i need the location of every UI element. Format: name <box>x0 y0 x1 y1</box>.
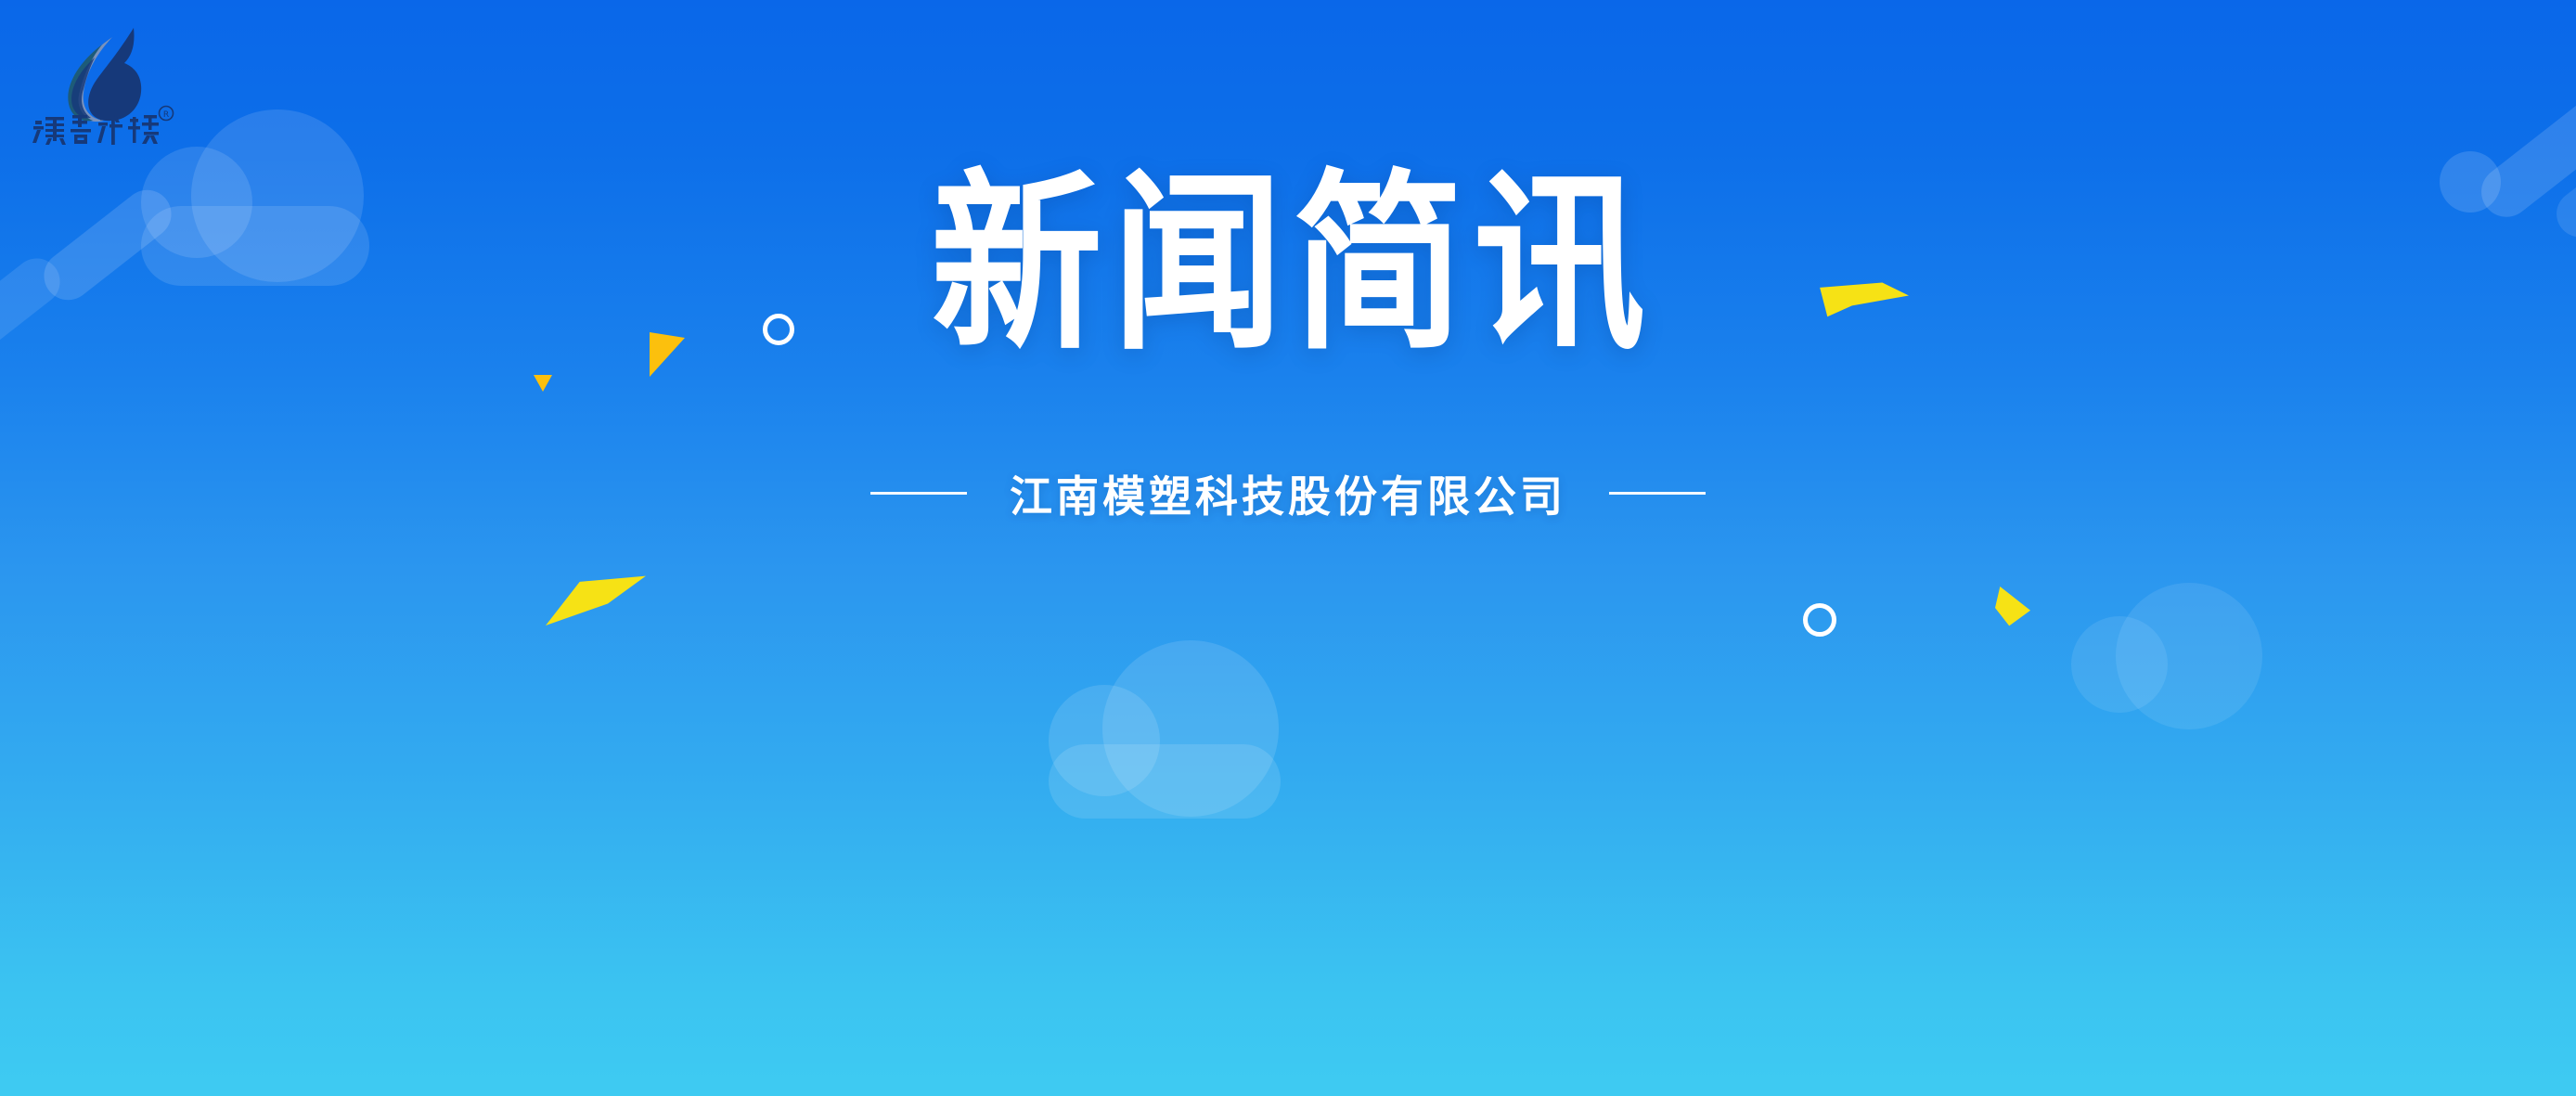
cloud-right <box>2071 583 2285 703</box>
news-banner: R 新闻简讯 江南模塑科技股份有限公司 <box>0 0 2576 1096</box>
subtitle-row: 江南模塑科技股份有限公司 <box>870 463 1706 524</box>
subtitle-rule-right <box>1609 492 1706 495</box>
company-name: 江南模塑科技股份有限公司 <box>1010 463 1566 524</box>
ribbon-yellow-lower-left <box>546 568 646 625</box>
svg-text:R: R <box>163 110 169 120</box>
cloud-center <box>1049 640 1308 780</box>
company-logo[interactable]: R <box>20 17 243 147</box>
subtitle-rule-left <box>870 492 967 495</box>
registered-trademark-icon: R <box>160 107 174 121</box>
ring-lower-right-icon <box>1803 603 1836 637</box>
logo-droplet-mark <box>68 28 141 122</box>
banner-content: 新闻简讯 江南模塑科技股份有限公司 <box>0 165 2576 524</box>
page-title: 新闻简讯 <box>921 165 1655 361</box>
ribbon-yellow-right-small <box>1995 587 2030 629</box>
